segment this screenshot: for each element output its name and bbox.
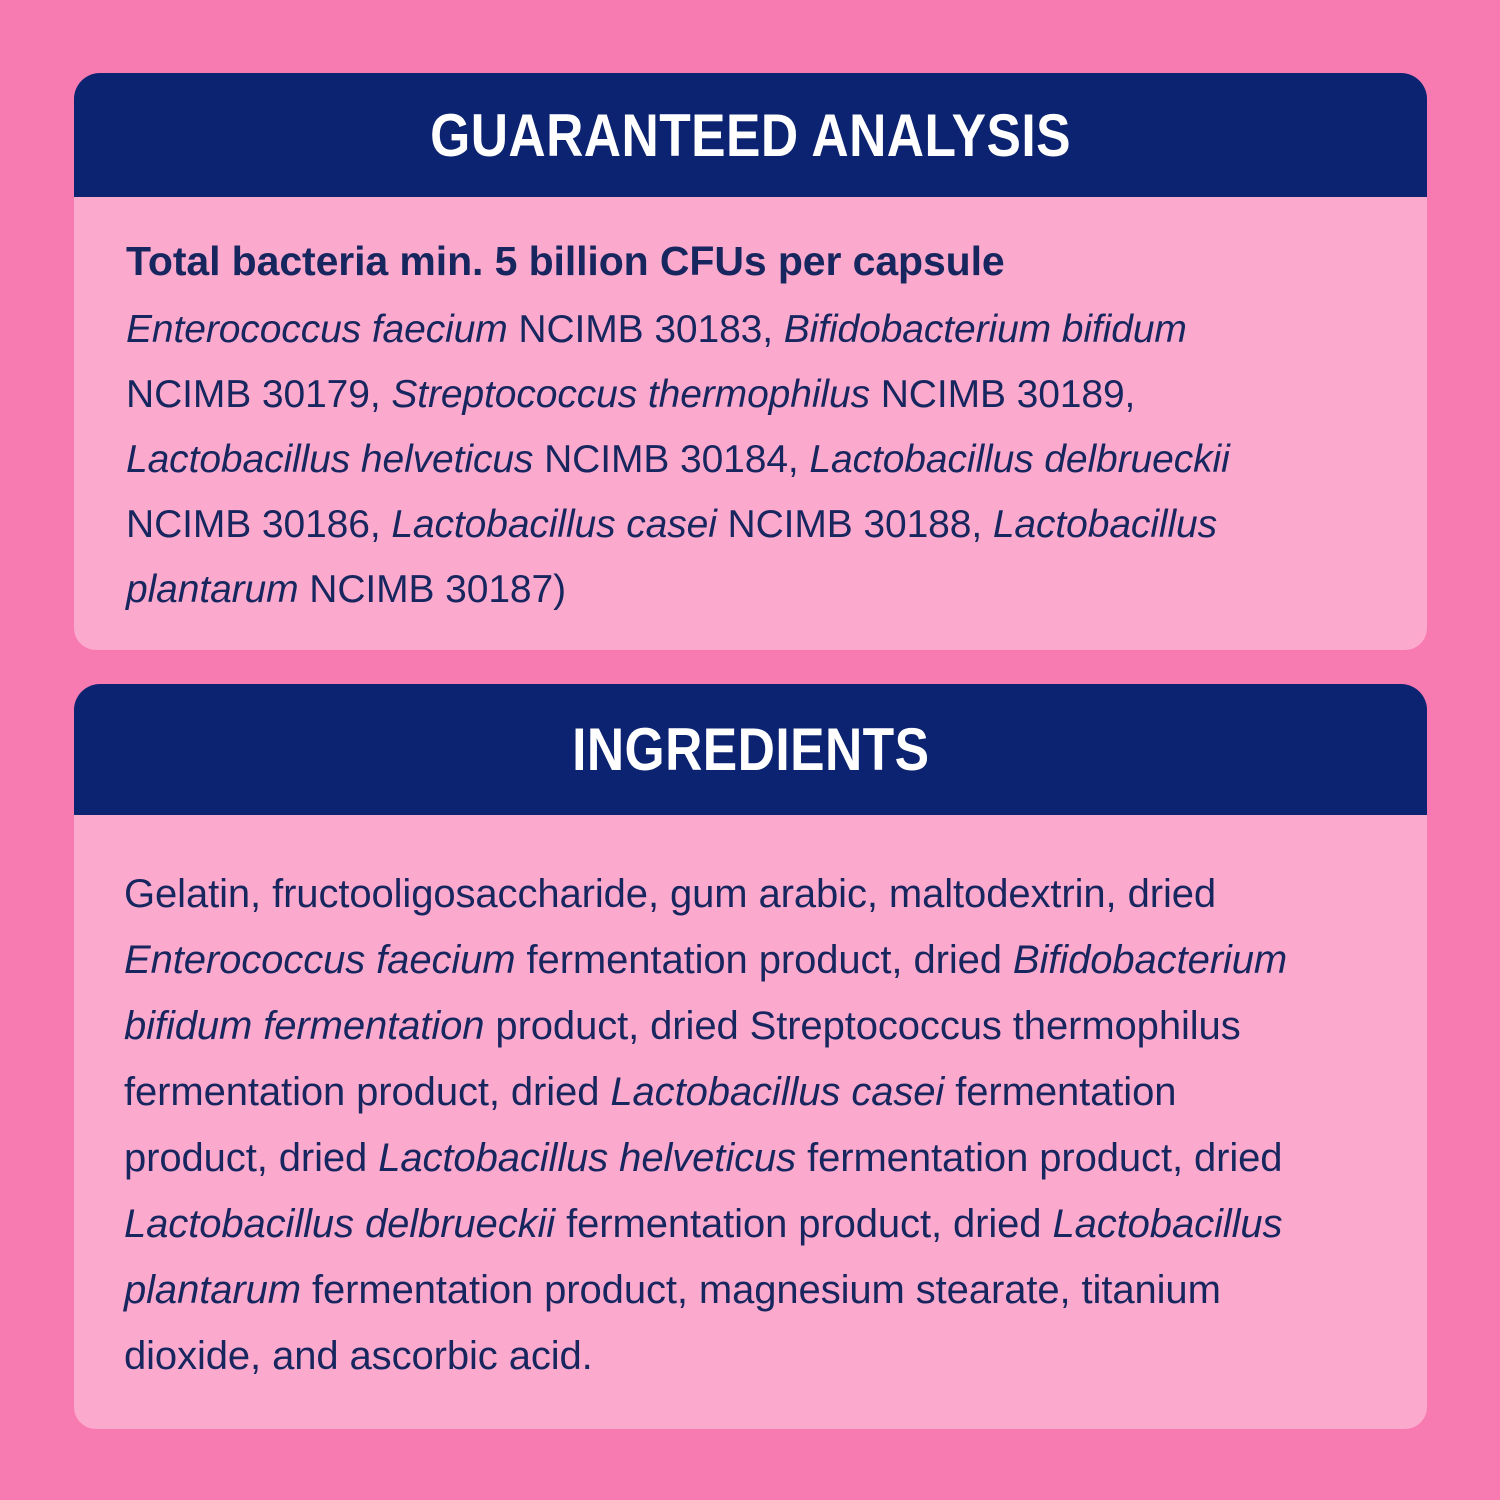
- text-line: Gelatin, fructooligosaccharide, gum arab…: [124, 861, 1377, 927]
- species-name: Lactobacillus delbrueckii: [809, 438, 1229, 481]
- text-line: product, dried Lactobacillus helveticus …: [124, 1125, 1377, 1191]
- species-name: Bifidobacterium: [1013, 938, 1287, 982]
- text-line: NCIMB 30179, Streptococcus thermophilus …: [126, 362, 1375, 427]
- supplement-label-card: GUARANTEED ANALYSIS Total bacteria min. …: [74, 73, 1427, 1429]
- text-run: fermentation: [944, 1070, 1176, 1114]
- ingredients-body: Gelatin, fructooligosaccharide, gum arab…: [74, 815, 1427, 1429]
- text-line: plantarum fermentation product, magnesiu…: [124, 1257, 1377, 1323]
- text-run: NCIMB 30187): [299, 568, 566, 611]
- species-name: Enterococcus faecium: [126, 308, 508, 351]
- text-line: dioxide, and ascorbic acid.: [124, 1323, 1377, 1389]
- species-name: bifidum fermentation: [124, 1004, 484, 1048]
- species-name: Lactobacillus helveticus: [378, 1136, 796, 1180]
- text-line: fermentation product, dried Lactobacillu…: [124, 1059, 1377, 1125]
- text-run: NCIMB 30184,: [533, 438, 809, 481]
- guaranteed-analysis-header: GUARANTEED ANALYSIS: [74, 73, 1427, 197]
- text-run: product, dried: [124, 1136, 378, 1180]
- text-line: Lactobacillus helveticus NCIMB 30184, La…: [126, 427, 1375, 492]
- text-run: NCIMB 30186,: [126, 503, 391, 546]
- text-line: bifidum fermentation product, dried Stre…: [124, 993, 1377, 1059]
- species-name: Lactobacillus: [1052, 1202, 1282, 1246]
- text-line: Enterococcus faecium NCIMB 30183, Bifido…: [126, 297, 1375, 362]
- species-name: Lactobacillus casei: [610, 1070, 944, 1114]
- guaranteed-analysis-body: Total bacteria min. 5 billion CFUs per c…: [74, 197, 1427, 650]
- text-run: fermentation product, dried: [516, 938, 1013, 982]
- guaranteed-analysis-lead: Total bacteria min. 5 billion CFUs per c…: [126, 227, 1375, 297]
- text-line: Enterococcus faecium fermentation produc…: [124, 927, 1377, 993]
- species-name: Lactobacillus delbrueckii: [124, 1202, 555, 1246]
- species-name: plantarum: [126, 568, 299, 611]
- text-run: fermentation product, dried: [796, 1136, 1282, 1180]
- text-run: NCIMB 30188,: [717, 503, 993, 546]
- text-line: Lactobacillus delbrueckii fermentation p…: [124, 1191, 1377, 1257]
- text-run: fermentation product, dried: [555, 1202, 1052, 1246]
- species-name: Lactobacillus casei: [391, 503, 716, 546]
- text-run: product, dried Streptococcus thermophilu…: [484, 1004, 1240, 1048]
- text-run: dioxide, and ascorbic acid.: [124, 1334, 593, 1378]
- species-name: Enterococcus faecium: [124, 938, 516, 982]
- text-line: plantarum NCIMB 30187): [126, 557, 1375, 622]
- guaranteed-analysis-strain-list: Enterococcus faecium NCIMB 30183, Bifido…: [126, 297, 1375, 622]
- species-name: Lactobacillus: [993, 503, 1217, 546]
- ingredients-header: INGREDIENTS: [74, 684, 1427, 815]
- text-run: NCIMB 30179,: [126, 373, 391, 416]
- ingredients-text: Gelatin, fructooligosaccharide, gum arab…: [124, 861, 1377, 1389]
- ingredients-title: INGREDIENTS: [572, 715, 929, 784]
- species-name: Lactobacillus helveticus: [126, 438, 533, 481]
- text-run: Gelatin, fructooligosaccharide, gum arab…: [124, 872, 1216, 916]
- species-name: plantarum: [124, 1268, 301, 1312]
- text-run: fermentation product, magnesium stearate…: [301, 1268, 1221, 1312]
- text-line: NCIMB 30186, Lactobacillus casei NCIMB 3…: [126, 492, 1375, 557]
- section-spacer: [74, 650, 1427, 684]
- species-name: Streptococcus thermophilus: [391, 373, 870, 416]
- species-name: Bifidobacterium bifidum: [784, 308, 1187, 351]
- text-run: fermentation product, dried: [124, 1070, 610, 1114]
- guaranteed-analysis-title: GUARANTEED ANALYSIS: [430, 101, 1071, 170]
- text-run: NCIMB 30183,: [508, 308, 784, 351]
- text-run: NCIMB 30189,: [870, 373, 1135, 416]
